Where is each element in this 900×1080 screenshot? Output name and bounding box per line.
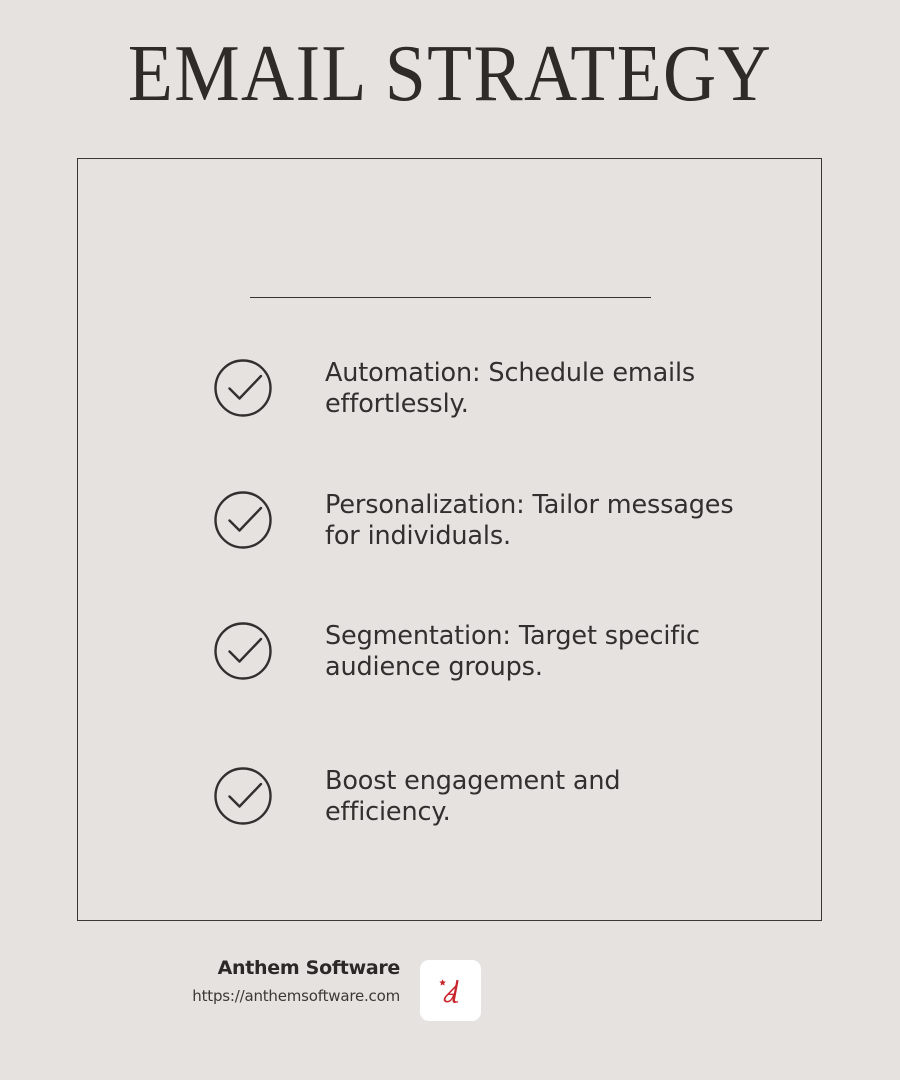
benefit-list: Automation: Schedule emails effortlessly… — [0, 0, 900, 1080]
list-item-label: Segmentation: Target specific audience g… — [325, 615, 745, 683]
brand-logo-tile — [420, 960, 481, 1021]
brand-url[interactable]: https://anthemsoftware.com — [150, 984, 400, 1008]
footer-brand-text: Anthem Software https://anthemsoftware.c… — [150, 955, 400, 1008]
list-item: Segmentation: Target specific audience g… — [212, 615, 772, 687]
check-circle-icon — [212, 484, 272, 556]
list-item: Personalization: Tailor messages for ind… — [212, 484, 772, 556]
list-item-label: Personalization: Tailor messages for ind… — [325, 484, 745, 552]
list-item: Automation: Schedule emails effortlessly… — [212, 352, 772, 424]
check-circle-icon — [212, 352, 272, 424]
footer: Anthem Software https://anthemsoftware.c… — [0, 955, 900, 1030]
anthem-a-star-logo-icon — [434, 974, 468, 1008]
brand-name: Anthem Software — [150, 955, 400, 981]
list-item-label: Boost engagement and efficiency. — [325, 760, 745, 828]
check-circle-icon — [212, 615, 272, 687]
check-circle-icon — [212, 760, 272, 832]
list-item: Boost engagement and efficiency. — [212, 760, 772, 832]
list-item-label: Automation: Schedule emails effortlessly… — [325, 352, 745, 420]
